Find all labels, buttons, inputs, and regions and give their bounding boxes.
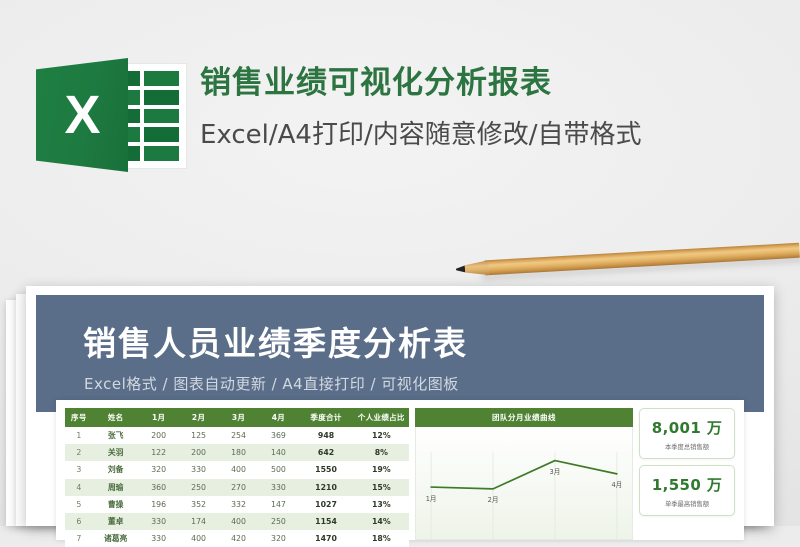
cell-month3: 254 — [219, 427, 259, 444]
chart-x-label: 3月 — [550, 466, 561, 476]
cell-month1: 330 — [139, 513, 179, 530]
cell-share: 12% — [354, 427, 409, 444]
table-row: 7诸葛亮330400420320147018% — [65, 530, 409, 547]
cell-name: 刘备 — [93, 461, 139, 478]
col-header-share: 个人业绩占比 — [354, 408, 409, 427]
table-row: 1张飞20012525436994812% — [65, 427, 409, 444]
kpi-label: 本季度总销售额 — [643, 442, 731, 451]
cell-share: 14% — [354, 513, 409, 530]
table-body: 1张飞20012525436994812%2关羽1222001801406428… — [65, 427, 409, 547]
cell-month1: 360 — [139, 479, 179, 496]
cell-total: 1027 — [298, 496, 353, 513]
document-header-panel: 销售人员业绩季度分析表 Excel格式 / 图表自动更新 / A4直接打印 / … — [36, 295, 764, 412]
table-row: 4周瑜360250270330121015% — [65, 479, 409, 496]
cell-total: 1154 — [298, 513, 353, 530]
table-row: 3刘备320330400500155019% — [65, 461, 409, 478]
table-row: 6董卓330174400250115414% — [65, 513, 409, 530]
cell-month4: 320 — [258, 530, 298, 547]
cell-name: 诸葛亮 — [93, 530, 139, 547]
cell-month1: 200 — [139, 427, 179, 444]
cell-month2: 125 — [179, 427, 219, 444]
cell-index: 2 — [65, 444, 93, 461]
cell-name: 周瑜 — [93, 479, 139, 496]
cell-total: 948 — [298, 427, 353, 444]
cell-month4: 140 — [258, 444, 298, 461]
banner-title: 销售业绩可视化分析报表 — [200, 64, 780, 103]
cell-index: 7 — [65, 530, 93, 547]
cell-share: 13% — [354, 496, 409, 513]
cell-month1: 122 — [139, 444, 179, 461]
report-card: 序号 姓名 1月 2月 3月 4月 季度合计 个人业绩占比 1张飞2001252… — [56, 400, 744, 540]
cell-month4: 250 — [258, 513, 298, 530]
table-row: 2关羽1222001801406428% — [65, 444, 409, 461]
chart-plot-area: 1月2月3月4月 — [415, 427, 633, 540]
col-header-month2: 2月 — [179, 408, 219, 427]
cell-month3: 332 — [219, 496, 259, 513]
kpi-label: 单季最高销售额 — [643, 499, 731, 508]
top-banner: X 销售业绩可视化分析报表 Excel/A4打印/内容随意修改/自带格式 — [0, 0, 800, 236]
cell-name: 曹操 — [93, 496, 139, 513]
cell-share: 15% — [354, 479, 409, 496]
cell-name: 董卓 — [93, 513, 139, 530]
performance-table: 序号 姓名 1月 2月 3月 4月 季度合计 个人业绩占比 1张飞2001252… — [65, 408, 409, 547]
cell-month2: 174 — [179, 513, 219, 530]
cell-month3: 400 — [219, 513, 259, 530]
chart-x-label: 4月 — [611, 479, 622, 489]
cell-index: 3 — [65, 461, 93, 478]
kpi-value: 8,001 万 — [643, 417, 731, 438]
monthly-trend-chart: 团队分月业绩曲线 1月2月3月4月 — [415, 408, 633, 540]
cell-month3: 180 — [219, 444, 259, 461]
col-header-index: 序号 — [65, 408, 93, 427]
chart-x-label: 1月 — [426, 493, 437, 503]
cell-share: 8% — [354, 444, 409, 461]
col-header-month3: 3月 — [219, 408, 259, 427]
table-row: 5曹操196352332147102713% — [65, 496, 409, 513]
cell-month4: 147 — [258, 496, 298, 513]
cell-name: 关羽 — [93, 444, 139, 461]
cell-month2: 330 — [179, 461, 219, 478]
cell-index: 6 — [65, 513, 93, 530]
cell-month2: 250 — [179, 479, 219, 496]
report-document: 销售人员业绩季度分析表 Excel格式 / 图表自动更新 / A4直接打印 / … — [26, 286, 774, 526]
cell-month1: 320 — [139, 461, 179, 478]
document-subtitle: Excel格式 / 图表自动更新 / A4直接打印 / 可视化图板 — [84, 373, 459, 394]
banner-text-block: 销售业绩可视化分析报表 Excel/A4打印/内容随意修改/自带格式 — [200, 64, 780, 151]
cell-month3: 400 — [219, 461, 259, 478]
col-header-total: 季度合计 — [298, 408, 353, 427]
chart-svg — [416, 427, 632, 539]
cell-month1: 330 — [139, 530, 179, 547]
excel-letter-x: X — [36, 58, 128, 172]
excel-logo-icon: X — [36, 58, 188, 172]
cell-share: 18% — [354, 530, 409, 547]
cell-month3: 420 — [219, 530, 259, 547]
chart-x-label: 2月 — [488, 494, 499, 504]
cell-total: 1470 — [298, 530, 353, 547]
cell-month1: 196 — [139, 496, 179, 513]
cell-total: 1550 — [298, 461, 353, 478]
cell-month2: 352 — [179, 496, 219, 513]
chart-title: 团队分月业绩曲线 — [415, 408, 633, 427]
col-header-month4: 4月 — [258, 408, 298, 427]
cell-month2: 200 — [179, 444, 219, 461]
table-header-row: 序号 姓名 1月 2月 3月 4月 季度合计 个人业绩占比 — [65, 408, 409, 427]
performance-table-wrap: 序号 姓名 1月 2月 3月 4月 季度合计 个人业绩占比 1张飞2001252… — [65, 408, 409, 540]
cell-month2: 400 — [179, 530, 219, 547]
cell-month4: 369 — [258, 427, 298, 444]
kpi-card: 8,001 万本季度总销售额 — [639, 408, 735, 459]
col-header-month1: 1月 — [139, 408, 179, 427]
cell-month4: 500 — [258, 461, 298, 478]
kpi-card: 1,550 万单季最高销售额 — [639, 465, 735, 516]
cell-total: 642 — [298, 444, 353, 461]
cell-share: 19% — [354, 461, 409, 478]
cell-index: 5 — [65, 496, 93, 513]
cell-month3: 270 — [219, 479, 259, 496]
cell-total: 1210 — [298, 479, 353, 496]
document-title: 销售人员业绩季度分析表 — [83, 317, 468, 365]
col-header-name: 姓名 — [93, 408, 139, 427]
banner-subtitle: Excel/A4打印/内容随意修改/自带格式 — [200, 119, 780, 152]
cell-month4: 330 — [258, 479, 298, 496]
cell-name: 张飞 — [93, 427, 139, 444]
cell-index: 1 — [65, 427, 93, 444]
cell-index: 4 — [65, 479, 93, 496]
kpi-value: 1,550 万 — [643, 474, 731, 495]
kpi-card-list: 8,001 万本季度总销售额1,550 万单季最高销售额 — [639, 408, 735, 540]
